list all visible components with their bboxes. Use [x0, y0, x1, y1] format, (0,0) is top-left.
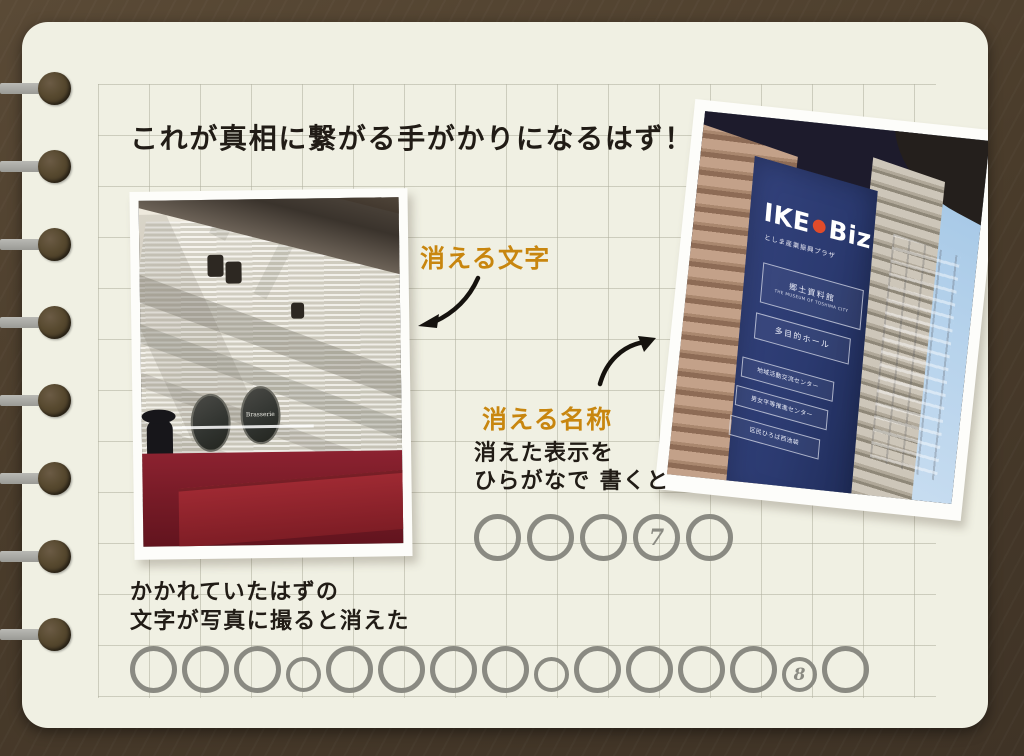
answer-circle-bottom-4[interactable]: [286, 657, 321, 692]
logo-dot-icon: [812, 218, 826, 234]
photo-station-facade[interactable]: Brasserie: [129, 188, 412, 560]
answer-circle-bottom-12[interactable]: [678, 646, 725, 693]
answer-circle-bottom-6[interactable]: [378, 646, 425, 693]
spiral-ring-4: [0, 306, 72, 339]
answer-row-bottom[interactable]: 8: [130, 646, 869, 693]
label-disappearing-text: 消える文字: [420, 239, 551, 275]
spiral-ring-3: [0, 228, 72, 261]
answer-row-top[interactable]: 7: [474, 514, 733, 561]
answer-circle-bottom-13[interactable]: [730, 646, 777, 693]
photo-right-image: IKE Biz としま産業振興プラザ 郷土資料館 THE MUSEUM OF T…: [667, 111, 988, 504]
ring-knob: [38, 462, 71, 495]
label-disappearing-name: 消える名称: [482, 400, 613, 436]
ring-knob: [38, 150, 71, 183]
answer-circle-bottom-8[interactable]: [482, 646, 529, 693]
answer-circle-bottom-15[interactable]: [822, 646, 869, 693]
spiral-ring-1: [0, 72, 72, 105]
ring-knob: [38, 540, 71, 573]
answer-circle-top-1[interactable]: [474, 514, 521, 561]
ring-knob: [38, 306, 71, 339]
ring-knob: [38, 384, 71, 417]
answer-circle-bottom-5[interactable]: [326, 646, 373, 693]
photo-ikebiz-tower[interactable]: IKE Biz としま産業振興プラザ 郷土資料館 THE MUSEUM OF T…: [654, 99, 988, 521]
answer-circle-bottom-2[interactable]: [182, 646, 229, 693]
instruction-line-1: 消えた表示を: [474, 440, 670, 468]
answer-circle-bottom-11[interactable]: [626, 646, 673, 693]
instruction-line-2: ひらがなで 書くと: [474, 468, 670, 496]
ring-knob: [38, 618, 71, 651]
spiral-ring-6: [0, 462, 72, 495]
spiral-ring-8: [0, 618, 72, 651]
notebook-scene: これが真相に繋がる手がかりになるはず！ Brasserie: [0, 0, 1024, 756]
instruction-block: 消えた表示を ひらがなで 書くと: [474, 440, 670, 496]
spiral-ring-2: [0, 150, 72, 183]
ring-knob: [38, 72, 71, 105]
page-headline: これが真相に繋がる手がかりになるはず！: [130, 125, 694, 153]
bottom-note-line-2: 文字が写真に撮ると消えた: [130, 608, 410, 637]
answer-circle-bottom-9[interactable]: [534, 657, 569, 692]
ring-knob: [38, 228, 71, 261]
spiral-ring-7: [0, 540, 72, 573]
answer-circle-bottom-10[interactable]: [574, 646, 621, 693]
answer-circle-bottom-3[interactable]: [234, 646, 281, 693]
answer-circle-top-5[interactable]: [686, 514, 733, 561]
answer-circle-top-3[interactable]: [580, 514, 627, 561]
answer-circle-bottom-7[interactable]: [430, 646, 477, 693]
answer-circle-top-2[interactable]: [527, 514, 574, 561]
photo-left-image: Brasserie: [139, 197, 404, 547]
spiral-ring-5: [0, 384, 72, 417]
curved-arrow-up-right-icon: [594, 334, 662, 390]
bottom-note: かかれていたはずの 文字が写真に撮ると消えた: [130, 579, 410, 636]
answer-circle-bottom-1[interactable]: [130, 646, 177, 693]
bottom-note-line-1: かかれていたはずの: [130, 579, 410, 608]
notebook-page: これが真相に繋がる手がかりになるはず！ Brasserie: [22, 22, 988, 728]
curved-arrow-down-left-icon: [408, 274, 486, 336]
answer-circle-bottom-14[interactable]: 8: [782, 657, 817, 692]
answer-circle-top-4[interactable]: 7: [633, 514, 680, 561]
